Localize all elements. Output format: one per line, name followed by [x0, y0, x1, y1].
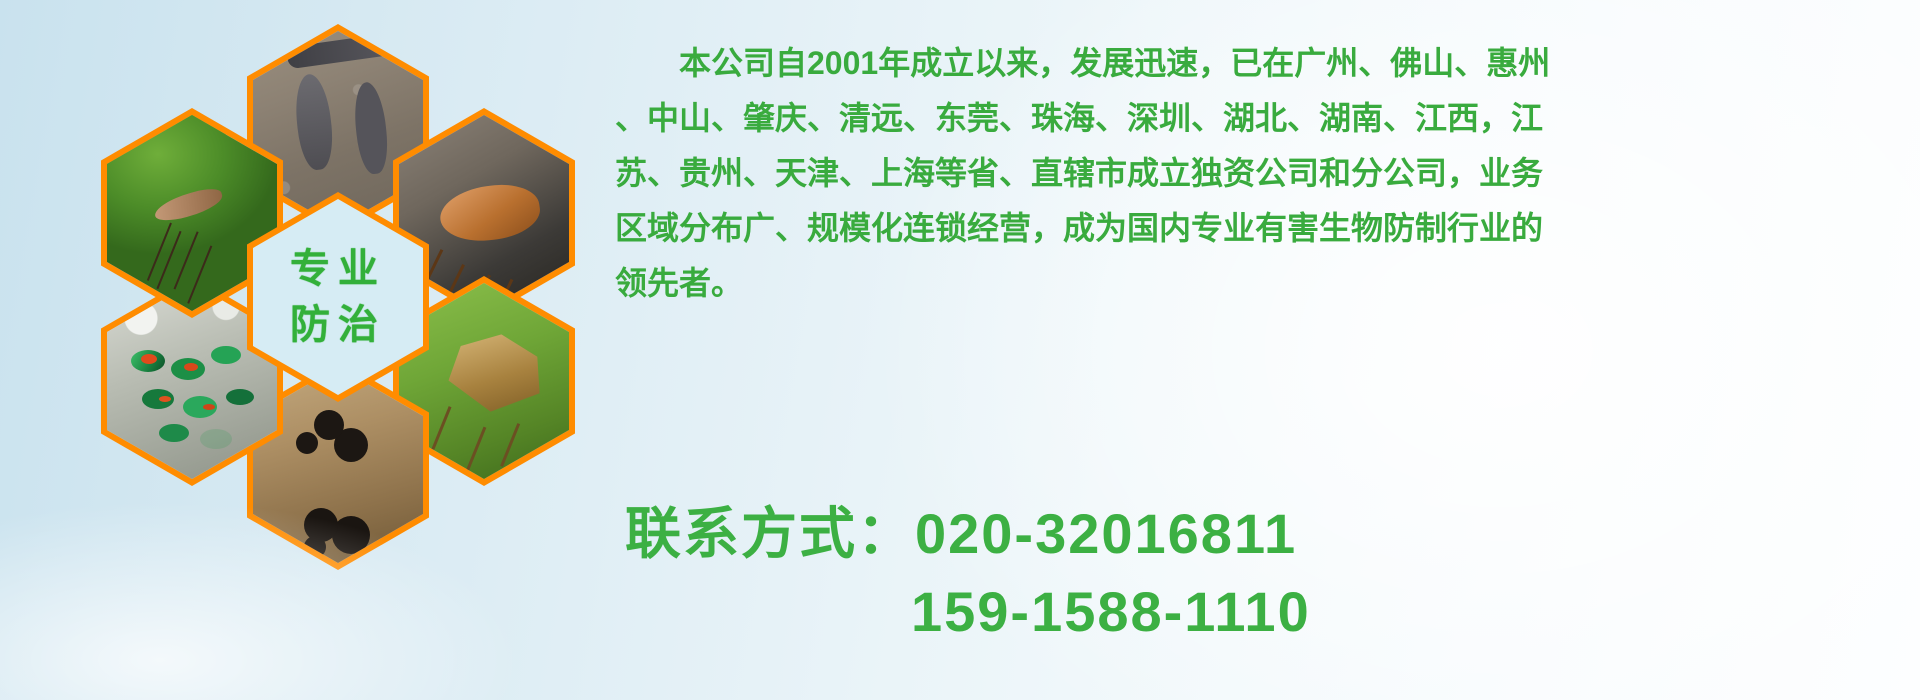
intro-line-5: 领先者。 [615, 256, 1905, 311]
slogan-line-2: 防治 [290, 305, 386, 345]
slogan-line-1: 专业 [290, 249, 386, 289]
intro-line-3: 苏、贵州、天津、上海等省、直辖市成立独资公司和分公司，业务 [615, 146, 1905, 201]
intro-line-4: 区域分布广、规模化连锁经营，成为国内专业有害生物防制行业的 [615, 201, 1905, 256]
contact-block: 联系方式：020-32016811 159-1588-1110 [625, 495, 1905, 651]
company-intro-paragraph: 本公司自2001年成立以来，发展迅速，已在广州、佛山、惠州 、中山、肇庆、清远、… [615, 36, 1905, 311]
intro-line-1: 本公司自2001年成立以来，发展迅速，已在广州、佛山、惠州 [615, 36, 1905, 91]
contact-phone-mobile[interactable]: 159-1588-1110 [625, 573, 1905, 651]
intro-line-2: 、中山、肇庆、清远、东莞、珠海、深圳、湖北、湖南、江西，江 [615, 91, 1905, 146]
slogan-block: 专业 防治 [253, 199, 423, 395]
promo-banner: 专业 防治 本公司自2001年成立以来，发展迅速，已在广州、佛山、惠州 、中山、… [0, 0, 1920, 700]
contact-phone-landline[interactable]: 联系方式：020-32016811 [625, 495, 1905, 573]
honeycomb-image-cluster: 专业 防治 [78, 8, 598, 588]
